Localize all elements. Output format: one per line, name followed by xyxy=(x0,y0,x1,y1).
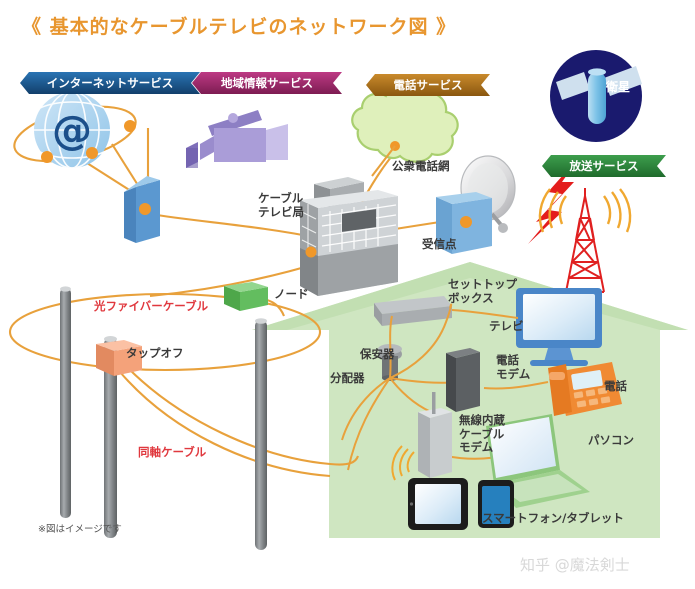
label-receiving-point: 受信点 xyxy=(422,238,457,252)
label-pc: パソコン xyxy=(588,434,634,448)
watermark: 知乎 @魔法剣士 xyxy=(520,554,630,575)
cable-tv-station-icon xyxy=(300,177,398,296)
label-coaxial-cable: 同軸ケーブル xyxy=(138,446,206,460)
label-wireless-cable-modem: 無線内蔵 ケーブル モデム xyxy=(459,414,505,455)
tablet-icon xyxy=(408,478,468,530)
svg-text:@: @ xyxy=(52,108,92,154)
banner-internet-service-label: インターネットサービス xyxy=(47,75,174,91)
label-smartphone-tablet: スマートフォン/タブレット xyxy=(482,512,624,526)
satellite-icon xyxy=(550,50,642,142)
label-phone: 電話 xyxy=(604,380,627,394)
node-box-icon xyxy=(224,282,268,311)
label-tap-off: タップオフ xyxy=(126,347,184,361)
banner-telephone-service-label: 電話サービス xyxy=(394,77,463,93)
footnote: ※図はイメージです xyxy=(38,521,122,535)
video-camera-icon xyxy=(186,110,288,168)
label-set-top-box: セットトップ ボックス xyxy=(448,278,517,305)
diagram-canvas: 《 基本的なケーブルテレビのネットワーク図 》 xyxy=(0,0,695,589)
label-phone-modem: 電話 モデム xyxy=(496,354,530,381)
label-splitter: 分配器 xyxy=(330,372,365,386)
banner-broadcast-service[interactable]: 放送サービス xyxy=(542,155,666,177)
label-public-phone-network: 公衆電話網 xyxy=(392,160,450,174)
banner-internet-service[interactable]: インターネットサービス xyxy=(20,72,200,94)
banner-broadcast-service-label: 放送サービス xyxy=(570,158,639,174)
banner-telephone-service[interactable]: 電話サービス xyxy=(366,74,490,96)
label-protector: 保安器 xyxy=(360,348,395,362)
label-fiber-cable: 光ファイバーケーブル xyxy=(94,300,208,314)
router-box-icon xyxy=(124,176,160,243)
label-cable-tv-station: ケーブル テレビ局 xyxy=(258,192,304,219)
utility-poles xyxy=(60,286,267,550)
banner-community-info-service[interactable]: 地域情報サービス xyxy=(192,72,342,94)
label-satellite: 衛星 xyxy=(606,80,630,94)
banner-community-info-service-label: 地域情報サービス xyxy=(221,75,313,91)
label-node: ノード xyxy=(274,288,309,302)
phone-modem-icon xyxy=(446,348,480,412)
label-tv: テレビ xyxy=(489,320,524,334)
